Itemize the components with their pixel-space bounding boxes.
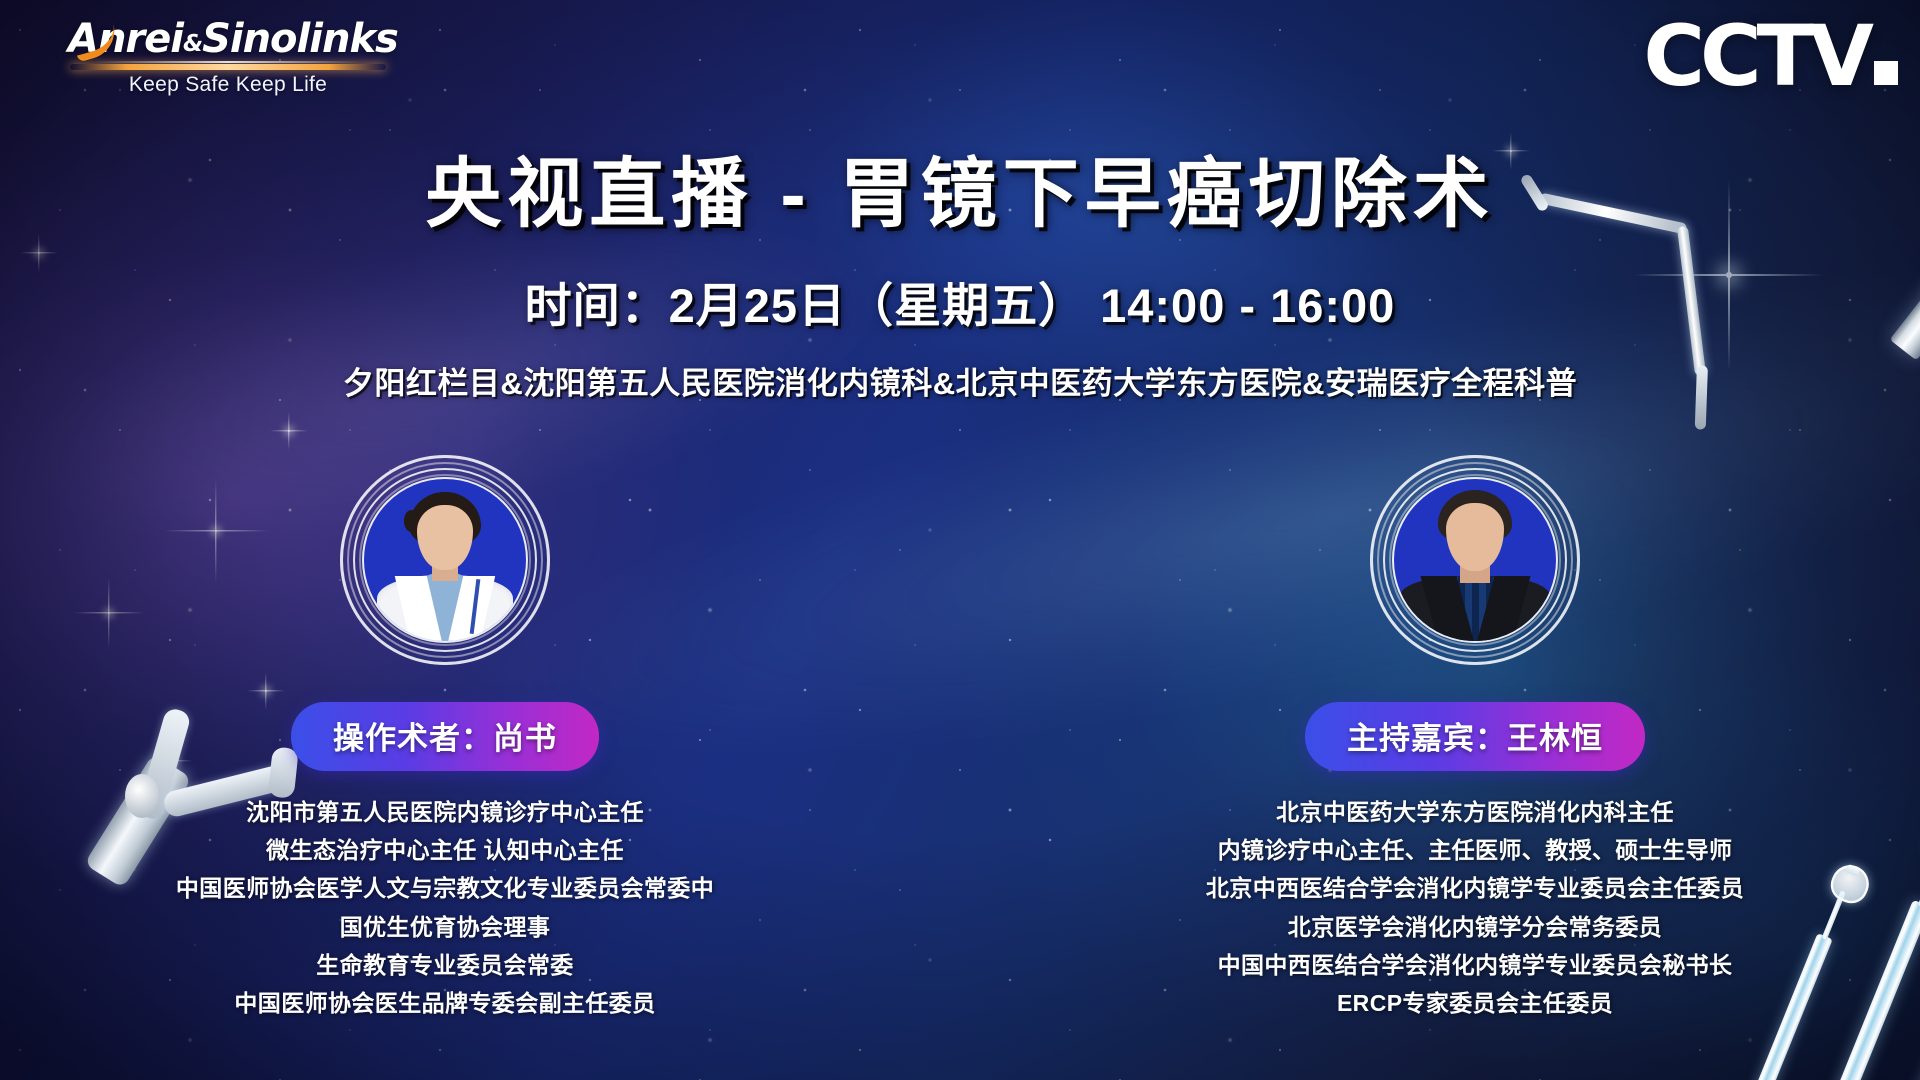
- presenter-name-badge: 操作术者：尚书: [291, 702, 599, 771]
- credential-line: 北京中西医结合学会消化内镜学专业委员会主任委员: [1195, 869, 1755, 907]
- event-time: 时间：2月25日（星期五） 14:00 - 16:00: [0, 267, 1920, 336]
- credential-line: 生命教育专业委员会常委: [165, 946, 725, 984]
- brand-tagline: Keep Safe Keep Life: [68, 73, 388, 97]
- cctv-logo-text: CCTV: [1643, 7, 1869, 105]
- brand-name-part2: Sinolinks: [202, 16, 398, 62]
- credential-line: 微生态治疗中心主任 认知中心主任: [165, 831, 725, 869]
- brand-divider: [70, 64, 386, 70]
- credential-line: 中国医师协会医学人文与宗教文化专业委员会常委中: [165, 869, 725, 907]
- credential-line: 北京医学会消化内镜学分会常务委员: [1195, 908, 1755, 946]
- credential-line: 内镜诊疗中心主任、主任医师、教授、硕士生导师: [1195, 831, 1755, 869]
- credential-line: 中国中西医结合学会消化内镜学专业委员会秘书长: [1195, 946, 1755, 984]
- cctv-logo-dot-icon: [1874, 61, 1898, 85]
- presenter-host: 主持嘉宾：王林恒 北京中医药大学东方医院消化内科主任 内镜诊疗中心主任、主任医师…: [1195, 455, 1755, 1022]
- presenter-name-badge: 主持嘉宾：王林恒: [1305, 702, 1645, 771]
- brand-wordmark: Anrei&Sinolinks: [68, 18, 388, 60]
- credential-line: 沈阳市第五人民医院内镜诊疗中心主任: [165, 793, 725, 831]
- cctv-logo: CCTV: [1643, 14, 1898, 98]
- presenter-operator: 操作术者：尚书 沈阳市第五人民医院内镜诊疗中心主任 微生态治疗中心主任 认知中心…: [165, 455, 725, 1022]
- presenter-credentials: 北京中医药大学东方医院消化内科主任 内镜诊疗中心主任、主任医师、教授、硕士生导师…: [1195, 793, 1755, 1022]
- credential-line: 中国医师协会医生品牌专委会副主任委员: [165, 984, 725, 1022]
- page-title: 央视直播 - 胃镜下早癌切除术: [0, 132, 1920, 242]
- avatar-photo-host: [1394, 479, 1556, 641]
- event-partners: 夕阳红栏目&沈阳第五人民医院消化内镜科&北京中医药大学东方医院&安瑞医疗全程科普: [0, 358, 1920, 403]
- brand-logo: Anrei&Sinolinks Keep Safe Keep Life: [68, 18, 388, 97]
- brand-ampersand: &: [183, 31, 202, 57]
- avatar-photo-operator: [364, 479, 526, 641]
- presenter-credentials: 沈阳市第五人民医院内镜诊疗中心主任 微生态治疗中心主任 认知中心主任 中国医师协…: [165, 793, 725, 1022]
- presenters-section: 操作术者：尚书 沈阳市第五人民医院内镜诊疗中心主任 微生态治疗中心主任 认知中心…: [0, 455, 1920, 1022]
- credential-line: 北京中医药大学东方医院消化内科主任: [1195, 793, 1755, 831]
- avatar: [1370, 455, 1580, 665]
- credential-line: ERCP专家委员会主任委员: [1195, 984, 1755, 1022]
- livestream-poster: Anrei&Sinolinks Keep Safe Keep Life CCTV…: [0, 0, 1920, 1080]
- credential-line: 国优生优育协会理事: [165, 908, 725, 946]
- avatar: [340, 455, 550, 665]
